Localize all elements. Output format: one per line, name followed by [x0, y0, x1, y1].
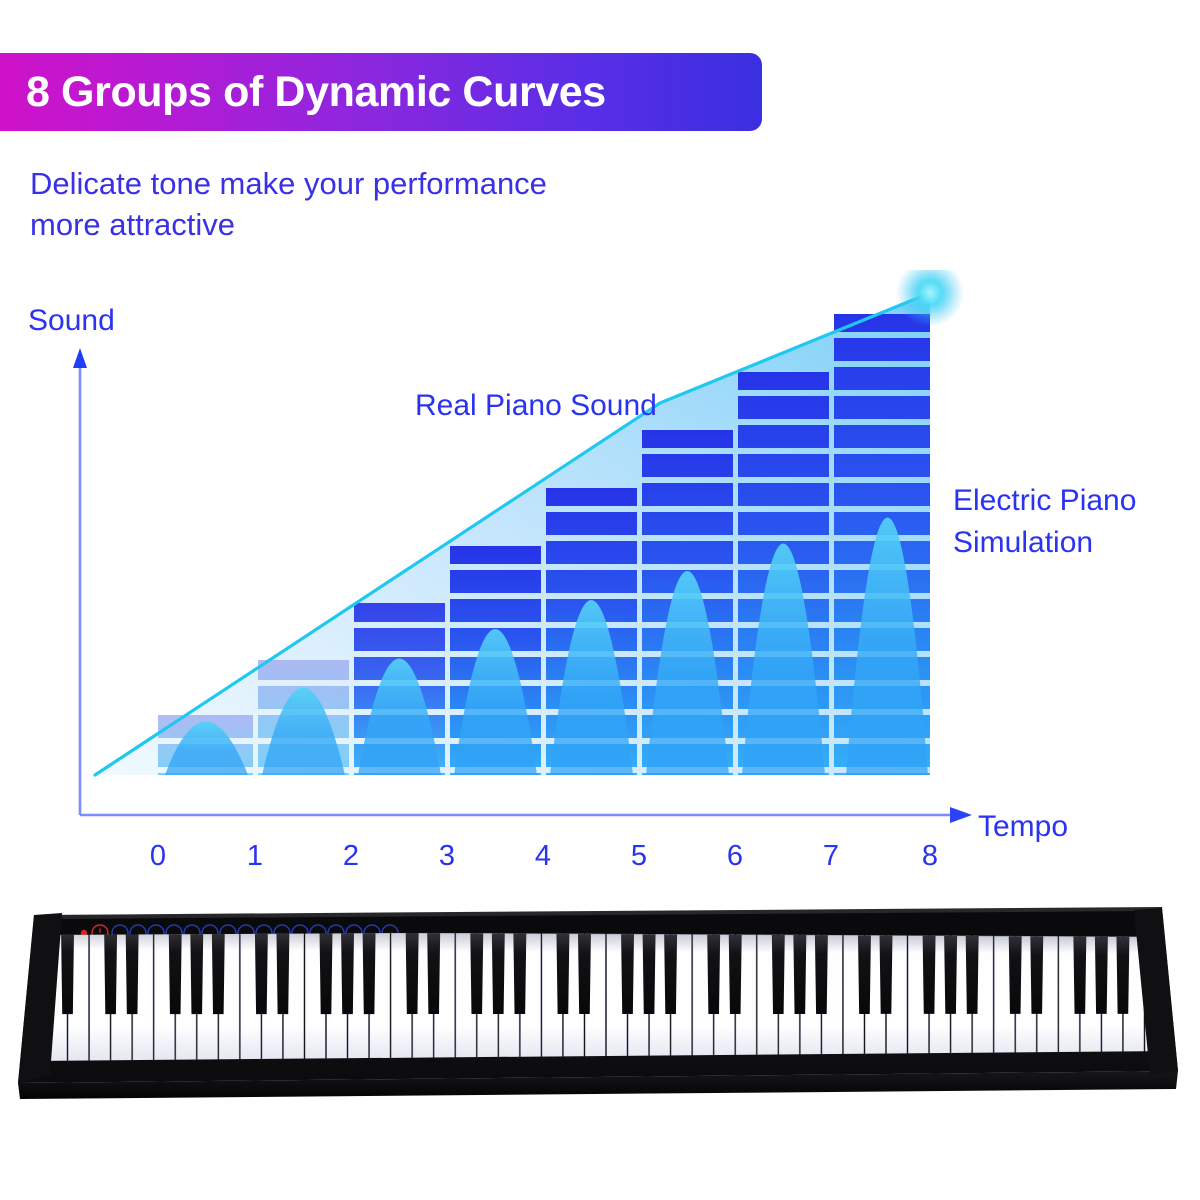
dynamic-curves-chart: Sound Tempo 0 1 2 3 4 5 6 7 8 Real Piano…	[0, 270, 1200, 890]
black-key[interactable]	[923, 936, 936, 1014]
black-key[interactable]	[1030, 936, 1043, 1014]
y-axis-label: Sound	[28, 304, 115, 337]
black-key[interactable]	[212, 932, 225, 1014]
page-title: 8 Groups of Dynamic Curves	[0, 68, 606, 117]
annotation-real-piano-sound: Real Piano Sound	[415, 389, 657, 422]
x-tick-labels: 0 1 2 3 4 5 6 7 8	[150, 840, 938, 872]
black-key[interactable]	[880, 936, 893, 1014]
black-key[interactable]	[276, 932, 289, 1014]
black-key[interactable]	[104, 931, 117, 1014]
black-key[interactable]	[793, 935, 806, 1014]
x-tick-1: 1	[247, 840, 263, 872]
black-key[interactable]	[664, 934, 677, 1014]
black-key[interactable]	[406, 933, 419, 1014]
black-key[interactable]	[363, 933, 376, 1014]
black-key[interactable]	[1116, 937, 1129, 1014]
black-key[interactable]	[858, 935, 871, 1014]
y-axis	[73, 348, 87, 815]
black-key[interactable]	[944, 936, 957, 1014]
x-axis-label: Tempo	[978, 810, 1068, 843]
black-key[interactable]	[1009, 936, 1022, 1014]
header-banner: 8 Groups of Dynamic Curves	[0, 53, 762, 131]
subtitle-text: Delicate tone make your performance more…	[30, 163, 730, 245]
x-tick-8: 8	[922, 840, 938, 872]
black-key[interactable]	[1095, 937, 1108, 1014]
black-key[interactable]	[169, 932, 182, 1014]
black-key[interactable]	[190, 932, 203, 1014]
black-key[interactable]	[492, 933, 505, 1014]
x-axis	[80, 807, 972, 823]
black-key[interactable]	[621, 934, 634, 1014]
black-key[interactable]	[707, 935, 720, 1014]
black-key[interactable]	[578, 934, 591, 1014]
black-key[interactable]	[729, 935, 742, 1014]
x-tick-6: 6	[727, 840, 743, 872]
black-key[interactable]	[1073, 937, 1086, 1014]
black-key[interactable]	[61, 931, 74, 1014]
black-key[interactable]	[513, 934, 526, 1014]
black-key[interactable]	[556, 934, 569, 1014]
annotation-electric-piano-line2: Simulation	[953, 526, 1093, 559]
black-key[interactable]	[341, 933, 354, 1014]
digital-piano-product-image	[0, 893, 1200, 1123]
x-tick-4: 4	[535, 840, 551, 872]
black-key[interactable]	[643, 934, 656, 1014]
x-tick-2: 2	[343, 840, 359, 872]
black-key[interactable]	[470, 933, 483, 1014]
x-tick-0: 0	[150, 840, 166, 872]
black-key[interactable]	[126, 931, 139, 1014]
x-tick-3: 3	[439, 840, 455, 872]
x-tick-5: 5	[631, 840, 647, 872]
black-key[interactable]	[320, 933, 333, 1015]
black-key[interactable]	[255, 932, 268, 1014]
annotation-electric-piano-line1: Electric Piano	[953, 484, 1136, 517]
black-key[interactable]	[966, 936, 979, 1014]
black-key[interactable]	[772, 935, 785, 1014]
black-key[interactable]	[815, 935, 828, 1014]
x-tick-7: 7	[823, 840, 839, 872]
keybed[interactable]	[30, 923, 1180, 1068]
black-key[interactable]	[427, 933, 440, 1014]
